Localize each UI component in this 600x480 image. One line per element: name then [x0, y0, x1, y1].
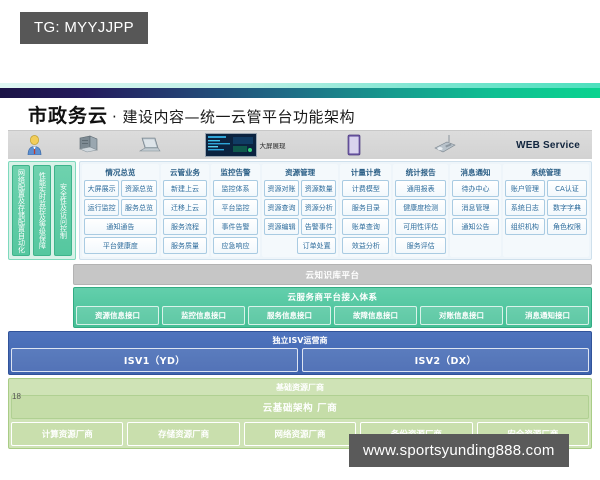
group-row: 通知公告: [452, 218, 499, 235]
group-row: 效益分析: [342, 237, 389, 254]
group-title: 云管业务: [163, 166, 208, 180]
vertical-bar-security: 安全性及访问控制: [54, 165, 72, 256]
device-mobile: [398, 131, 490, 159]
group-row: 运行监控 服务总览: [84, 199, 157, 216]
group-row: 服务质量: [163, 237, 208, 254]
group-title: 情况总览: [84, 166, 157, 180]
slide-title-sub: · 建设内容—统一云管平台功能架构: [112, 108, 355, 126]
group-cell[interactable]: 资源总览: [121, 180, 156, 197]
access-interface-item[interactable]: 消息通知接口: [506, 306, 589, 325]
group-cell[interactable]: 系统日志: [505, 199, 545, 216]
group-cell[interactable]: 可用性评估: [395, 218, 446, 235]
server-icon: [77, 135, 101, 155]
access-interface-row: 资源信息接口 监控信息接口 服务信息接口 故障信息接口 对账信息接口 消息通知接…: [76, 306, 589, 325]
access-interface-item[interactable]: 服务信息接口: [248, 306, 331, 325]
slide-title: 市政务云· 建设内容—统一云管平台功能架构: [0, 98, 600, 128]
group-situation-overview[interactable]: 情况总览 大屏展示 资源总览 运行监控 服务总览 通知通告: [82, 164, 159, 257]
group-cell[interactable]: 资源编辑: [264, 218, 299, 235]
group-row: 通知通告: [84, 218, 157, 235]
device-laptop: [118, 131, 180, 159]
vertical-capability-bars: 网络配置及存储配置自动化 性能实时监控及等级保障 安全性及访问控制: [8, 161, 76, 260]
group-row: 资源编辑 告警事件: [264, 218, 337, 235]
group-cloud-management[interactable]: 云管业务 新建上云 迁移上云 服务流程 服务质量: [161, 164, 210, 257]
group-cell[interactable]: 订单处置: [297, 237, 337, 254]
knowledge-base-bar: 云知识库平台: [73, 264, 592, 285]
group-cell[interactable]: 新建上云: [163, 180, 208, 197]
big-screen-label: 大屏展现: [260, 140, 286, 150]
access-tier: 云服务商平台接入体系 资源信息接口 监控信息接口 服务信息接口 故障信息接口 对…: [8, 285, 592, 328]
group-title: 计量计费: [342, 166, 389, 180]
isv-layer-title: 独立ISV运营商: [11, 334, 589, 348]
group-row: 应急响应: [213, 237, 258, 254]
group-cell[interactable]: 效益分析: [342, 237, 389, 254]
group-cell[interactable]: 角色权限: [547, 218, 587, 235]
group-cell[interactable]: 通知公告: [452, 218, 499, 235]
group-row: 资源对账 资源数量: [264, 180, 337, 197]
access-interface-item[interactable]: 监控信息接口: [162, 306, 245, 325]
group-cell[interactable]: 应急响应: [213, 237, 258, 254]
slide-title-main: 市政务云: [28, 105, 108, 127]
architecture-body: 网络配置及存储配置自动化 性能实时监控及等级保障 安全性及访问控制 情况总览: [8, 161, 592, 328]
vertical-bar-label: 网络配置及存储配置自动化: [18, 169, 25, 253]
group-row: 平台健康度: [84, 237, 157, 254]
knowledge-tier-spacer: [8, 262, 70, 285]
group-cell[interactable]: 迁移上云: [163, 199, 208, 216]
laptop-icon: [136, 136, 162, 155]
tg-overlay-tag: TG: MYYJJPP: [20, 12, 148, 44]
infrastructure-vendor-item[interactable]: 计算资源厂商: [11, 422, 123, 446]
group-row: 账户管理 CA认证: [505, 180, 587, 197]
isv-layer: 独立ISV运营商 ISV1（YD） ISV2（DX）: [8, 331, 592, 375]
group-cell[interactable]: 数字字典: [547, 199, 587, 216]
group-row: 资源查询 资源分析: [264, 199, 337, 216]
access-interface-item[interactable]: 故障信息接口: [334, 306, 417, 325]
cloud-provider-access-layer: 云服务商平台接入体系 资源信息接口 监控信息接口 服务信息接口 故障信息接口 对…: [73, 287, 592, 328]
group-cell[interactable]: 服务流程: [163, 218, 208, 235]
group-cell[interactable]: 资源对账: [264, 180, 299, 197]
group-title: 消息通知: [452, 166, 499, 180]
vertical-bar-label: 安全性及访问控制: [60, 183, 67, 239]
group-row: 组织机构 角色权限: [505, 218, 587, 235]
group-title: 资源管理: [264, 166, 337, 180]
group-row: 服务评估: [395, 237, 446, 254]
vertical-bar-label: 性能实时监控及等级保障: [39, 172, 46, 249]
group-title: 系统管理: [505, 166, 587, 180]
group-row: 迁移上云: [163, 199, 208, 216]
group-title: 监控告警: [213, 166, 258, 180]
device-icon-row: 大屏展现 WEB Service: [8, 130, 592, 159]
group-cell[interactable]: 监控体系: [213, 180, 258, 197]
group-cell[interactable]: 通用报表: [395, 180, 446, 197]
big-screen-icon: [205, 133, 257, 157]
group-row: 事件告警: [213, 218, 258, 235]
group-cell[interactable]: 服务质量: [163, 237, 208, 254]
group-cell[interactable]: 服务目录: [342, 199, 389, 216]
group-message-notification[interactable]: 消息通知 待办中心 消息管理 通知公告: [450, 164, 501, 257]
group-cell[interactable]: 账单查询: [342, 218, 389, 235]
group-cell[interactable]: CA认证: [547, 180, 587, 197]
group-row: 健康度检测: [395, 199, 446, 216]
group-resource-management[interactable]: 资源管理 资源对账 资源数量 资源查询 资源分析 资源编辑: [262, 164, 339, 257]
group-system-management[interactable]: 系统管理 账户管理 CA认证 系统日志 数字字典 组织机构: [503, 164, 589, 257]
group-row: 订单处置: [264, 237, 337, 254]
slide-canvas: 市政务云· 建设内容—统一云管平台功能架构: [0, 88, 600, 408]
watermark-url: www.sportsyunding888.com: [349, 434, 569, 467]
group-statistical-report[interactable]: 统计报告 通用报表 健康度检测 可用性评估 服务评估: [393, 164, 448, 257]
infrastructure-vendor-item[interactable]: 存储资源厂商: [127, 422, 239, 446]
access-layer-title: 云服务商平台接入体系: [76, 290, 589, 306]
group-cell[interactable]: 平台监控: [213, 199, 258, 216]
vertical-bar-network-storage: 网络配置及存储配置自动化: [12, 165, 30, 256]
group-cell[interactable]: 平台健康度: [84, 237, 157, 254]
group-row: 通用报表: [395, 180, 446, 197]
group-row: 消息管理: [452, 199, 499, 216]
function-groups: 情况总览 大屏展示 资源总览 运行监控 服务总览 通知通告: [79, 161, 592, 260]
group-cell[interactable]: 消息管理: [452, 199, 499, 216]
group-row: 可用性评估: [395, 218, 446, 235]
access-interface-item[interactable]: 对账信息接口: [420, 306, 503, 325]
mobile-device-icon: [430, 134, 458, 156]
group-cell[interactable]: 资源查询: [264, 199, 299, 216]
access-tier-spacer: [8, 285, 70, 328]
vertical-bar-performance: 性能实时监控及等级保障: [33, 165, 51, 256]
device-tablet: [310, 131, 398, 159]
group-cell[interactable]: 事件告警: [213, 218, 258, 235]
group-row: 服务流程: [163, 218, 208, 235]
group-row: 监控体系: [213, 180, 258, 197]
slide-page: TG: MYYJJPP 市政务云· 建设内容—统一云管平台功能架构: [0, 0, 600, 480]
device-user: [8, 131, 60, 159]
group-monitoring-alarm[interactable]: 监控告警 监控体系 平台监控 事件告警 应急响应: [211, 164, 260, 257]
device-server: [60, 131, 118, 159]
isv-item-2[interactable]: ISV2（DX）: [302, 348, 589, 372]
infrastructure-subtitle: 云基础架构 厂商: [11, 395, 589, 419]
group-cell[interactable]: 服务评估: [395, 237, 446, 254]
group-cell[interactable]: 运行监控: [84, 199, 119, 216]
group-row: 计费模型: [342, 180, 389, 197]
group-cell[interactable]: 待办中心: [452, 180, 499, 197]
web-service-label: WEB Service: [516, 140, 580, 151]
group-cell[interactable]: 账户管理: [505, 180, 545, 197]
group-cell[interactable]: 大屏展示: [84, 180, 119, 197]
infrastructure-vendor-item[interactable]: 网络资源厂商: [244, 422, 356, 446]
group-row: 平台监控: [213, 199, 258, 216]
group-title: 统计报告: [395, 166, 446, 180]
group-cell[interactable]: 计费模型: [342, 180, 389, 197]
knowledge-tier: 云知识库平台: [8, 262, 592, 285]
group-cell[interactable]: 资源分析: [301, 199, 336, 216]
infrastructure-layer-title: 基础资源厂商: [11, 381, 589, 395]
group-row: 待办中心: [452, 180, 499, 197]
group-row: 账单查询: [342, 218, 389, 235]
group-row: 系统日志 数字字典: [505, 199, 587, 216]
capability-tier: 网络配置及存储配置自动化 性能实时监控及等级保障 安全性及访问控制 情况总览: [8, 161, 592, 260]
group-cell[interactable]: 资源数量: [301, 180, 336, 197]
isv-item-1[interactable]: ISV1（YD）: [11, 348, 298, 372]
device-web-service: WEB Service: [490, 131, 592, 159]
device-big-screen: 大屏展现: [180, 131, 310, 159]
group-cell[interactable]: 告警事件: [301, 218, 336, 235]
group-cell[interactable]: 服务总览: [121, 199, 156, 216]
group-row: 新建上云: [163, 180, 208, 197]
group-metering-billing[interactable]: 计量计费 计费模型 服务目录 账单查询 效益分析: [340, 164, 391, 257]
access-interface-item[interactable]: 资源信息接口: [76, 306, 159, 325]
tablet-icon: [347, 134, 361, 156]
group-cell[interactable]: 通知通告: [84, 218, 157, 235]
group-row: 大屏展示 资源总览: [84, 180, 157, 197]
page-number: 18: [12, 392, 21, 401]
user-icon: [26, 135, 43, 155]
group-cell[interactable]: 组织机构: [505, 218, 545, 235]
isv-row: ISV1（YD） ISV2（DX）: [11, 348, 589, 372]
group-row: 服务目录: [342, 199, 389, 216]
group-cell[interactable]: 健康度检测: [395, 199, 446, 216]
slide-top-gradient-strip: [0, 88, 600, 98]
